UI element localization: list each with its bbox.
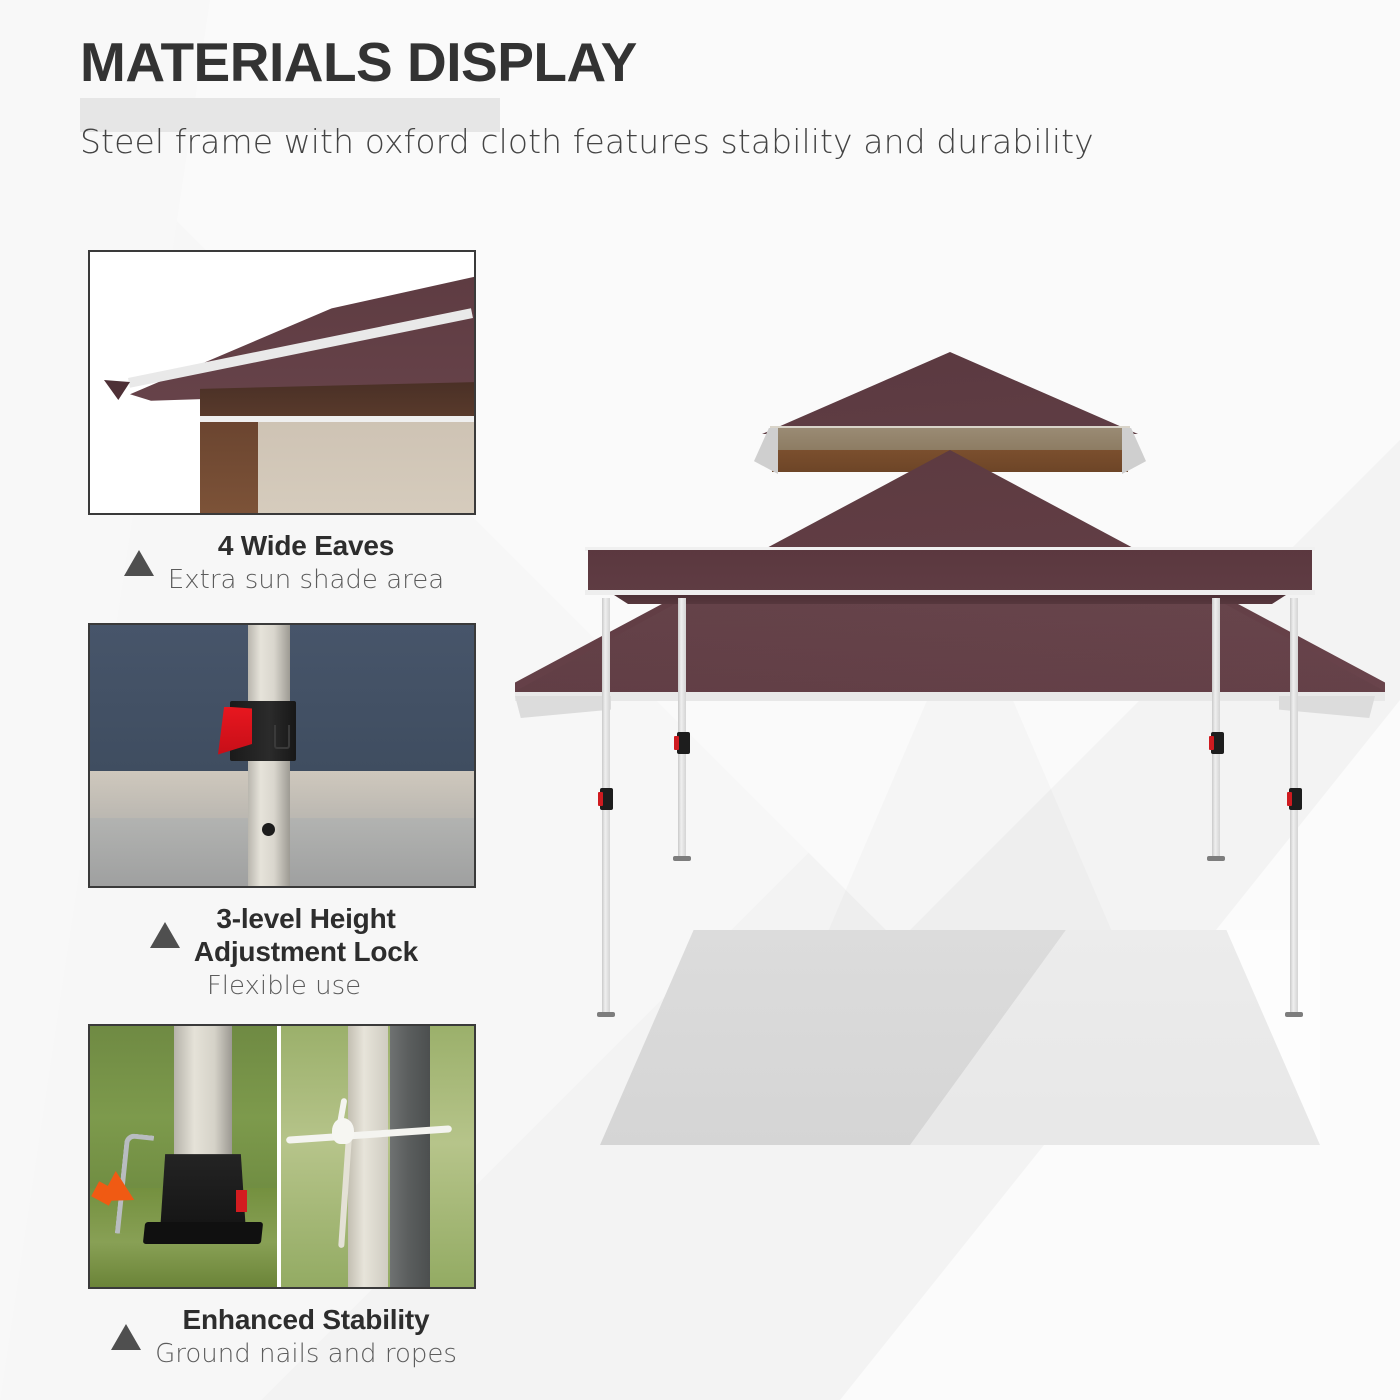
valance-bottom-trim — [585, 590, 1315, 595]
stability-base-plate — [143, 1222, 263, 1244]
frame-leg-back-left — [678, 598, 686, 860]
canopy-valance — [588, 550, 1312, 592]
triangle-bullet-icon — [150, 922, 180, 948]
feature-image-enhanced-stability — [88, 1024, 476, 1289]
leg-foot-front-left — [597, 1012, 615, 1017]
infographic-page: MATERIALS DISPLAY Steel frame with oxfor… — [0, 0, 1400, 1400]
stability-pole-left — [174, 1026, 232, 1176]
rope-knot — [332, 1118, 354, 1144]
leg-foot-back-left — [673, 856, 691, 861]
feature-height-lock: 3-level Height Adjustment Lock Flexible … — [88, 623, 480, 1003]
canopy-vent-roof — [762, 352, 1138, 434]
feature-enhanced-stability: Enhanced Stability Ground nails and rope… — [88, 1024, 480, 1371]
feature-title: 3-level Height Adjustment Lock — [194, 902, 418, 968]
pole-adjustment-hole — [262, 823, 275, 836]
feature-caption-wide-eaves: 4 Wide Eaves Extra sun shade area — [88, 515, 480, 597]
frame-leg-back-right — [1212, 598, 1220, 860]
leg-lock-lever-front-right — [1287, 792, 1292, 806]
eaves-beige-panel — [258, 422, 476, 515]
feature-image-height-lock — [88, 623, 476, 888]
canopy-vent-cap-left — [754, 428, 778, 474]
eaves-brown-panel — [200, 422, 258, 515]
lock-slot — [274, 725, 290, 749]
feature-title: 4 Wide Eaves — [218, 529, 394, 562]
feature-caption-enhanced-stability: Enhanced Stability Ground nails and rope… — [88, 1289, 480, 1371]
header: MATERIALS DISPLAY Steel frame with oxfor… — [80, 34, 1330, 161]
leg-lock-lever-back-left — [674, 736, 679, 750]
feature-caption-height-lock: 3-level Height Adjustment Lock Flexible … — [88, 888, 480, 1003]
leg-foot-front-right — [1285, 1012, 1303, 1017]
canopy-roof-trim — [515, 692, 1385, 701]
canopy-vent-mesh-upper — [772, 428, 1128, 450]
feature-subtitle: Flexible use — [88, 970, 480, 1003]
feature-image-wide-eaves — [88, 250, 476, 515]
feature-title: Enhanced Stability — [183, 1303, 430, 1336]
leg-lock-lever-back-right — [1209, 736, 1214, 750]
triangle-bullet-icon — [111, 1324, 141, 1350]
stability-pole-beige — [348, 1026, 388, 1289]
feature-list: 4 Wide Eaves Extra sun shade area — [88, 250, 480, 1371]
leg-lock-lever-front-left — [598, 792, 603, 806]
page-subtitle: Steel frame with oxford cloth features s… — [80, 122, 1330, 161]
valance-inner-shadow — [600, 595, 1300, 604]
stability-foot-plate — [160, 1154, 246, 1232]
feature-subtitle: Ground nails and ropes — [155, 1338, 457, 1371]
stability-pole-dark — [390, 1026, 430, 1289]
triangle-bullet-icon — [124, 550, 154, 576]
leg-foot-back-right — [1207, 856, 1225, 861]
stability-red-tab — [236, 1190, 247, 1212]
feature-subtitle: Extra sun shade area — [168, 564, 444, 597]
stability-image-divider — [277, 1026, 281, 1287]
product-illustration — [490, 300, 1400, 1100]
page-title: MATERIALS DISPLAY — [80, 34, 1330, 92]
canopy-eave-left — [515, 696, 611, 718]
feature-wide-eaves: 4 Wide Eaves Extra sun shade area — [88, 250, 480, 597]
canopy-vent-cap-right — [1122, 428, 1146, 474]
